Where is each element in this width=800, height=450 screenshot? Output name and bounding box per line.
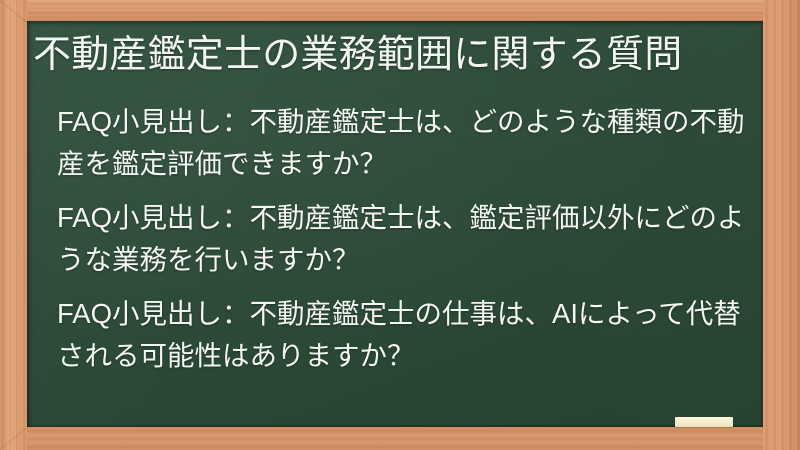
list-item: FAQ小見出し：不動産鑑定士の仕事は、AIによって代替される可能性はありますか？ [57, 293, 747, 377]
list-item: FAQ小見出し：不動産鑑定士は、どのような種類の不動産を鑑定評価できますか？ [57, 101, 747, 185]
blackboard-figure: 不動産鑑定士の業務範囲に関する質問 FAQ小見出し：不動産鑑定士は、どのような種… [0, 0, 800, 450]
page-title: 不動産鑑定士の業務範囲に関する質問 [33, 31, 757, 79]
wood-frame-left [0, 0, 27, 450]
list-item: FAQ小見出し：不動産鑑定士は、鑑定評価以外にどのような業務を行いますか？ [57, 197, 747, 281]
chalkboard-surface: 不動産鑑定士の業務範囲に関する質問 FAQ小見出し：不動産鑑定士は、どのような種… [27, 21, 763, 427]
chalk-stick [675, 417, 733, 427]
wood-frame-right [763, 0, 800, 450]
wood-frame-top [0, 0, 800, 22]
wood-frame-bottom [0, 426, 800, 450]
faq-list: FAQ小見出し：不動産鑑定士は、どのような種類の不動産を鑑定評価できますか？ F… [57, 101, 747, 377]
